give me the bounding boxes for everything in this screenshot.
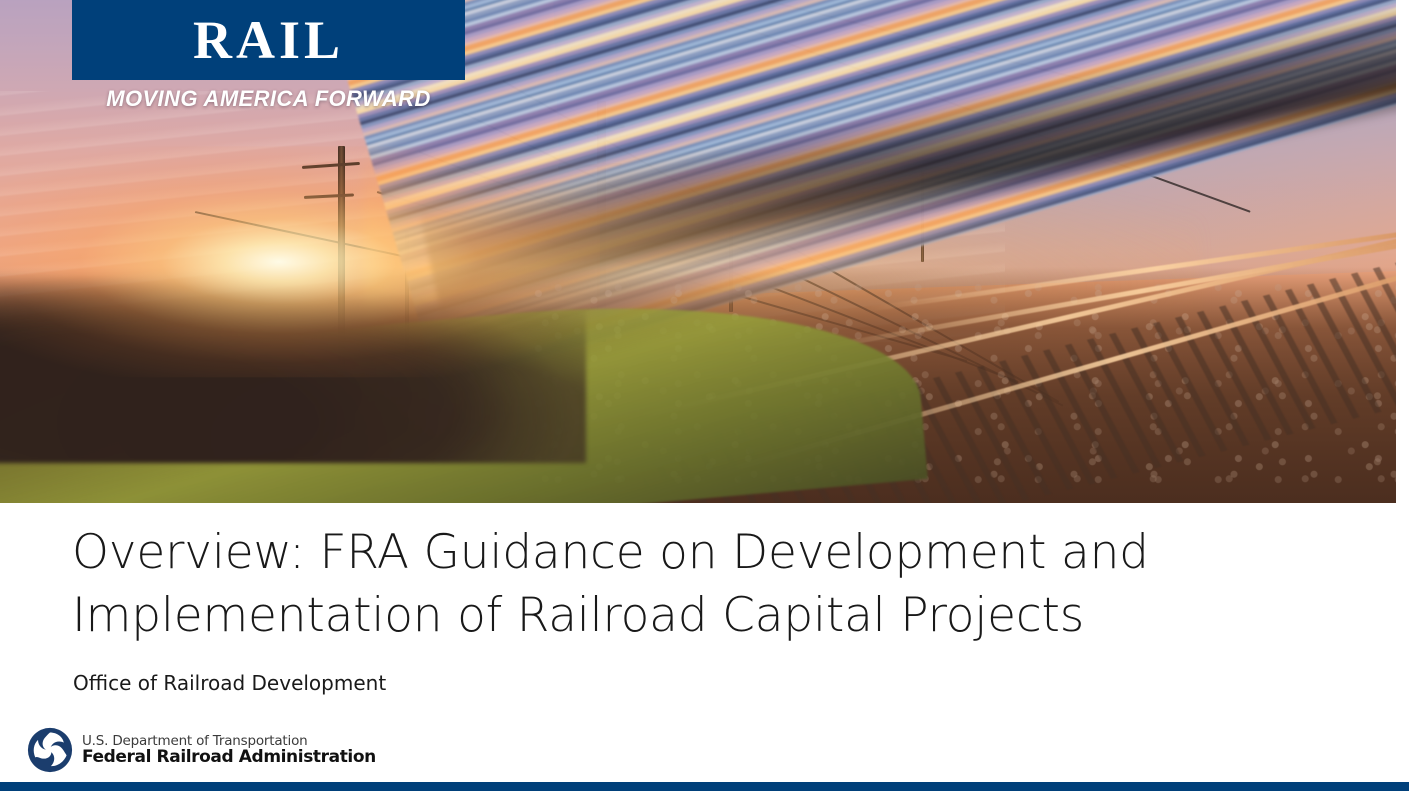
page-title: Overview: FRA Guidance on Development an… bbox=[72, 521, 1322, 648]
page-title-line-1: Overview: FRA Guidance on Development an… bbox=[72, 521, 1322, 584]
agency-department: U.S. Department of Transportation bbox=[82, 734, 376, 748]
dot-triskelion-seal-icon bbox=[27, 727, 73, 773]
treeline bbox=[0, 252, 586, 463]
agency-text: U.S. Department of Transportation Federa… bbox=[82, 734, 376, 766]
page-title-line-2: Implementation of Railroad Capital Proje… bbox=[72, 584, 1322, 647]
rail-tagline: MOVING AMERICA FORWARD bbox=[72, 86, 465, 112]
rail-logo-box: RAIL bbox=[72, 0, 465, 80]
rail-logo-wordmark: RAIL bbox=[193, 13, 344, 67]
page-subtitle: Office of Railroad Development bbox=[73, 671, 386, 695]
bottom-accent-bar bbox=[0, 782, 1409, 791]
agency-administration: Federal Railroad Administration bbox=[82, 748, 376, 766]
agency-logo: U.S. Department of Transportation Federa… bbox=[27, 727, 376, 773]
hero-photo: RAIL MOVING AMERICA FORWARD bbox=[0, 0, 1396, 503]
title-slide: RAIL MOVING AMERICA FORWARD Overview: FR… bbox=[0, 0, 1409, 791]
